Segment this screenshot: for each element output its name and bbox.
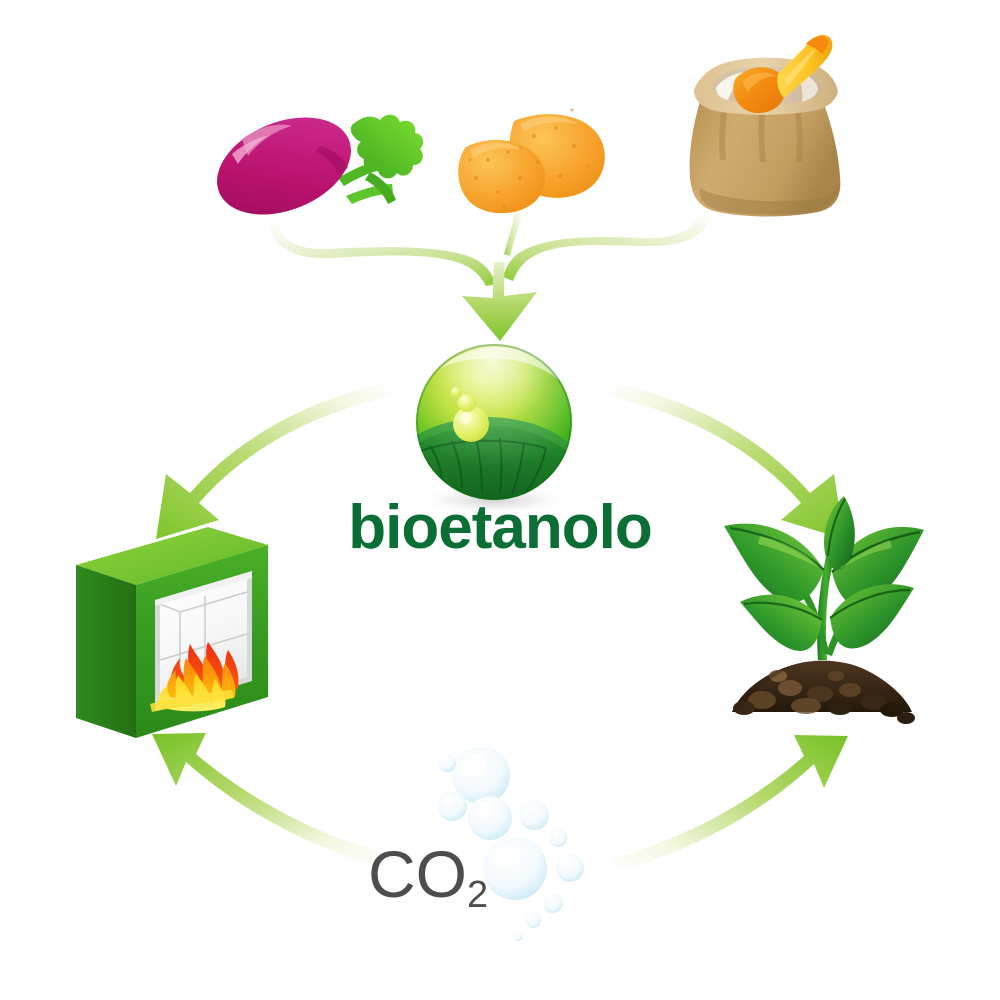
co2-label-subscript: 2 <box>467 874 488 916</box>
icon-grain-sack <box>690 35 841 217</box>
arrow-co2-to-plant <box>612 735 848 872</box>
icon-potatoes <box>458 108 605 213</box>
page-title: bioetanolo <box>0 497 1000 559</box>
arrow-converge-head <box>462 262 537 341</box>
arrow-co2-to-fireplace <box>152 733 386 868</box>
arrow-beet-to-sphere <box>268 221 496 286</box>
co2-label-main: CO <box>368 837 467 911</box>
co2-label: CO2 <box>368 841 488 914</box>
diagram-canvas: bioetanolo CO2 <box>0 0 1000 1000</box>
arrow-sack-to-sphere <box>503 213 712 281</box>
icon-beetroot <box>203 99 424 233</box>
icon-bioethanol-sphere <box>407 344 577 518</box>
arrow-potatoes-to-sphere <box>504 206 523 256</box>
